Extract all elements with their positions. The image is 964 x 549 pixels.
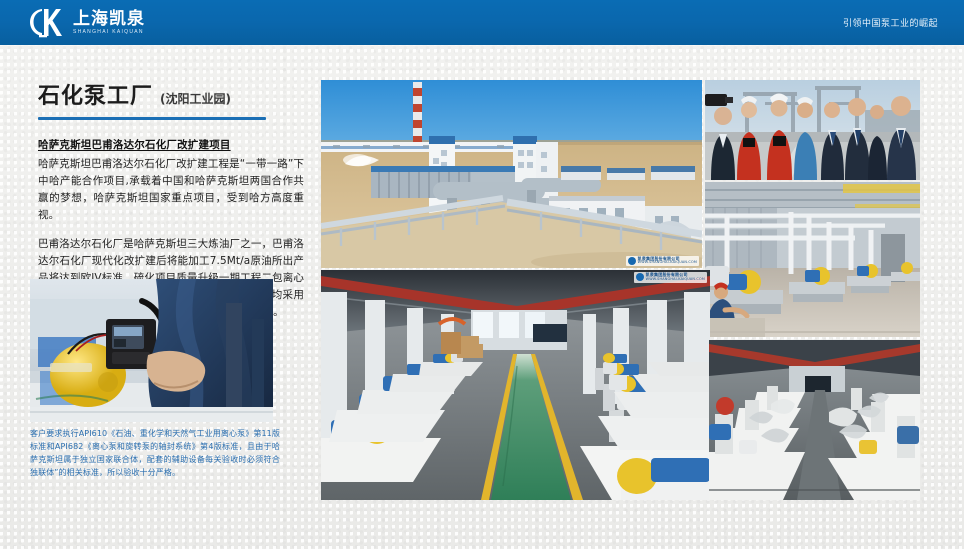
refinery-plant-photo: 凯泉集团股份有限公司 WWW.SHANGHAI-KAIQUAN.COM xyxy=(321,80,702,268)
project-paragraph-1: 哈萨克斯坦巴甫洛达尔石化厂改扩建工程是“一带一路”下中哈产能合作项目,承载着中国… xyxy=(38,156,304,224)
slide-root: 上海凯泉 SHANGHAI KAIQUAN 引领中国泵工业的崛起 石化泵工厂 (… xyxy=(0,0,964,549)
assembly-workshop-photo: 凯泉集团股份有限公司 WWW.SHANGHAI-KAIQUAN.COM xyxy=(321,270,710,500)
delegation-illustration xyxy=(705,80,920,180)
standards-caption: 客户要求执行API610《石油、重化学和天然气工业用离心泵》第11版标准和API… xyxy=(30,428,280,480)
kaiquan-kq-monogram-icon xyxy=(28,6,66,39)
packaged-pumps-photo xyxy=(709,340,920,500)
photo-watermark: 凯泉集团股份有限公司 WWW.SHANGHAI-KAIQUAN.COM xyxy=(634,272,707,283)
header-tagline: 引领中国泵工业的崛起 xyxy=(843,0,938,45)
project-lead-heading: 哈萨克斯坦巴甫洛达尔石化厂改扩建项目 xyxy=(38,137,304,152)
brand-logo[interactable]: 上海凯泉 SHANGHAI KAIQUAN xyxy=(28,5,145,40)
watermark-logo-icon xyxy=(636,273,644,281)
header-bar: 上海凯泉 SHANGHAI KAIQUAN 引领中国泵工业的崛起 xyxy=(0,0,964,45)
field-vibration-test-photo xyxy=(30,279,273,422)
refinery-plant-illustration xyxy=(321,80,702,268)
watermark-text: 凯泉集团股份有限公司 WWW.SHANGHAI-KAIQUAN.COM xyxy=(646,273,705,282)
photo-watermark: 凯泉集团股份有限公司 WWW.SHANGHAI-KAIQUAN.COM xyxy=(626,256,699,267)
title-underline-rule xyxy=(38,117,266,120)
pump-room-photo xyxy=(705,182,920,337)
pump-room-illustration xyxy=(705,182,920,337)
brand-name-cn: 上海凯泉 xyxy=(73,11,145,28)
assembly-workshop-illustration xyxy=(321,270,710,500)
packaged-pumps-illustration xyxy=(709,340,920,500)
watermark-logo-icon xyxy=(628,257,636,265)
delegation-visit-photo xyxy=(705,80,920,180)
field-test-illustration xyxy=(30,279,273,422)
page-title-main: 石化泵工厂 xyxy=(38,78,153,110)
watermark-text: 凯泉集团股份有限公司 WWW.SHANGHAI-KAIQUAN.COM xyxy=(638,257,697,266)
brand-wordmark: 上海凯泉 SHANGHAI KAIQUAN xyxy=(73,11,145,35)
page-title-sub: (沈阳工业园) xyxy=(160,90,231,107)
brand-name-en: SHANGHAI KAIQUAN xyxy=(73,30,145,35)
page-title: 石化泵工厂 (沈阳工业园) xyxy=(38,78,304,110)
